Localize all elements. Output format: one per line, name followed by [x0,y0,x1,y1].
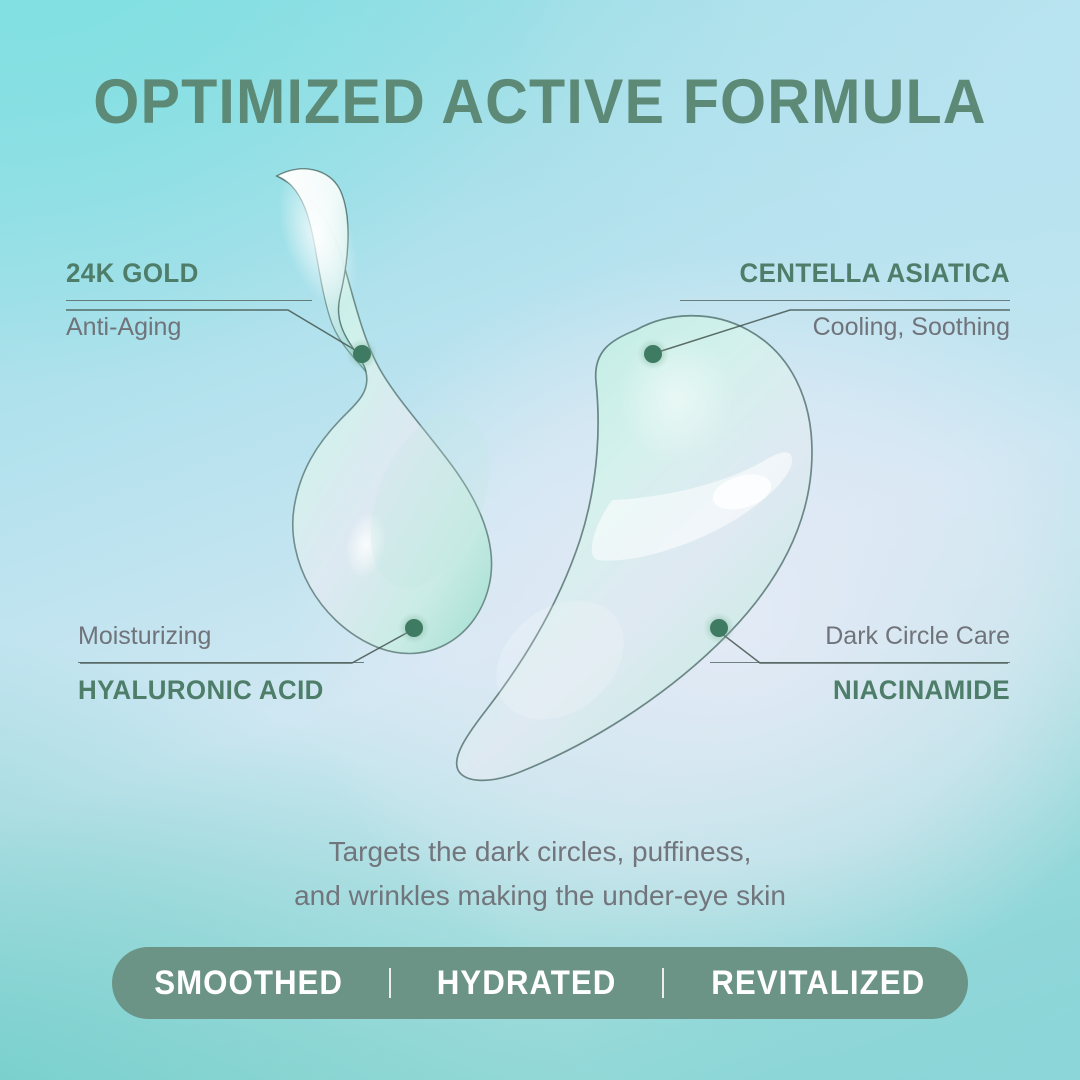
callout-ingredient-name: CENTELLA ASIATICA [693,258,1010,289]
callout-divider [78,662,364,663]
heart-gua-sha-stone [457,316,812,781]
benefit-separator [662,968,664,998]
callout-divider [66,300,312,301]
product-description: Targets the dark circles, puffiness, and… [0,830,1080,918]
callout-benefit-text: Anti-Aging [66,313,312,342]
callout-ingredient-name: NIACINAMIDE [722,675,1010,706]
description-line-1: Targets the dark circles, puffiness, [0,830,1080,874]
callout-hyaluronic-acid: Moisturizing HYALURONIC ACID [78,622,364,706]
gua-sha-stones-illustration [0,0,1080,1080]
callout-divider [710,662,1010,663]
callout-benefit-text: Cooling, Soothing [680,313,1010,342]
callout-dot-centella-asiatica[interactable] [637,338,669,370]
callout-centella-asiatica: CENTELLA ASIATICA Cooling, Soothing [680,258,1010,342]
callout-ingredient-name: 24K GOLD [66,258,302,289]
benefit-badge-revitalized: REVITALIZED [711,964,925,1003]
callout-dot-24k-gold[interactable] [346,338,378,370]
callout-divider [680,300,1010,301]
callout-benefit-text: Moisturizing [78,622,364,651]
callout-24k-gold: 24K GOLD Anti-Aging [66,258,312,342]
benefits-badge-bar: SMOOTHED HYDRATED REVITALIZED [112,947,968,1019]
callout-niacinamide: Dark Circle Care NIACINAMIDE [710,622,1010,706]
benefit-separator [389,968,391,998]
callout-benefit-text: Dark Circle Care [710,622,1010,651]
benefit-badge-hydrated: HYDRATED [437,964,617,1003]
benefit-badge-smoothed: SMOOTHED [154,964,343,1003]
description-line-2: and wrinkles making the under-eye skin [0,874,1080,918]
callout-ingredient-name: HYALURONIC ACID [78,675,353,706]
droplet-gua-sha-tool [263,155,513,653]
callout-dot-hyaluronic-acid[interactable] [398,612,430,644]
infographic-canvas: OPTIMIZED ACTIVE FORMULA [0,0,1080,1080]
